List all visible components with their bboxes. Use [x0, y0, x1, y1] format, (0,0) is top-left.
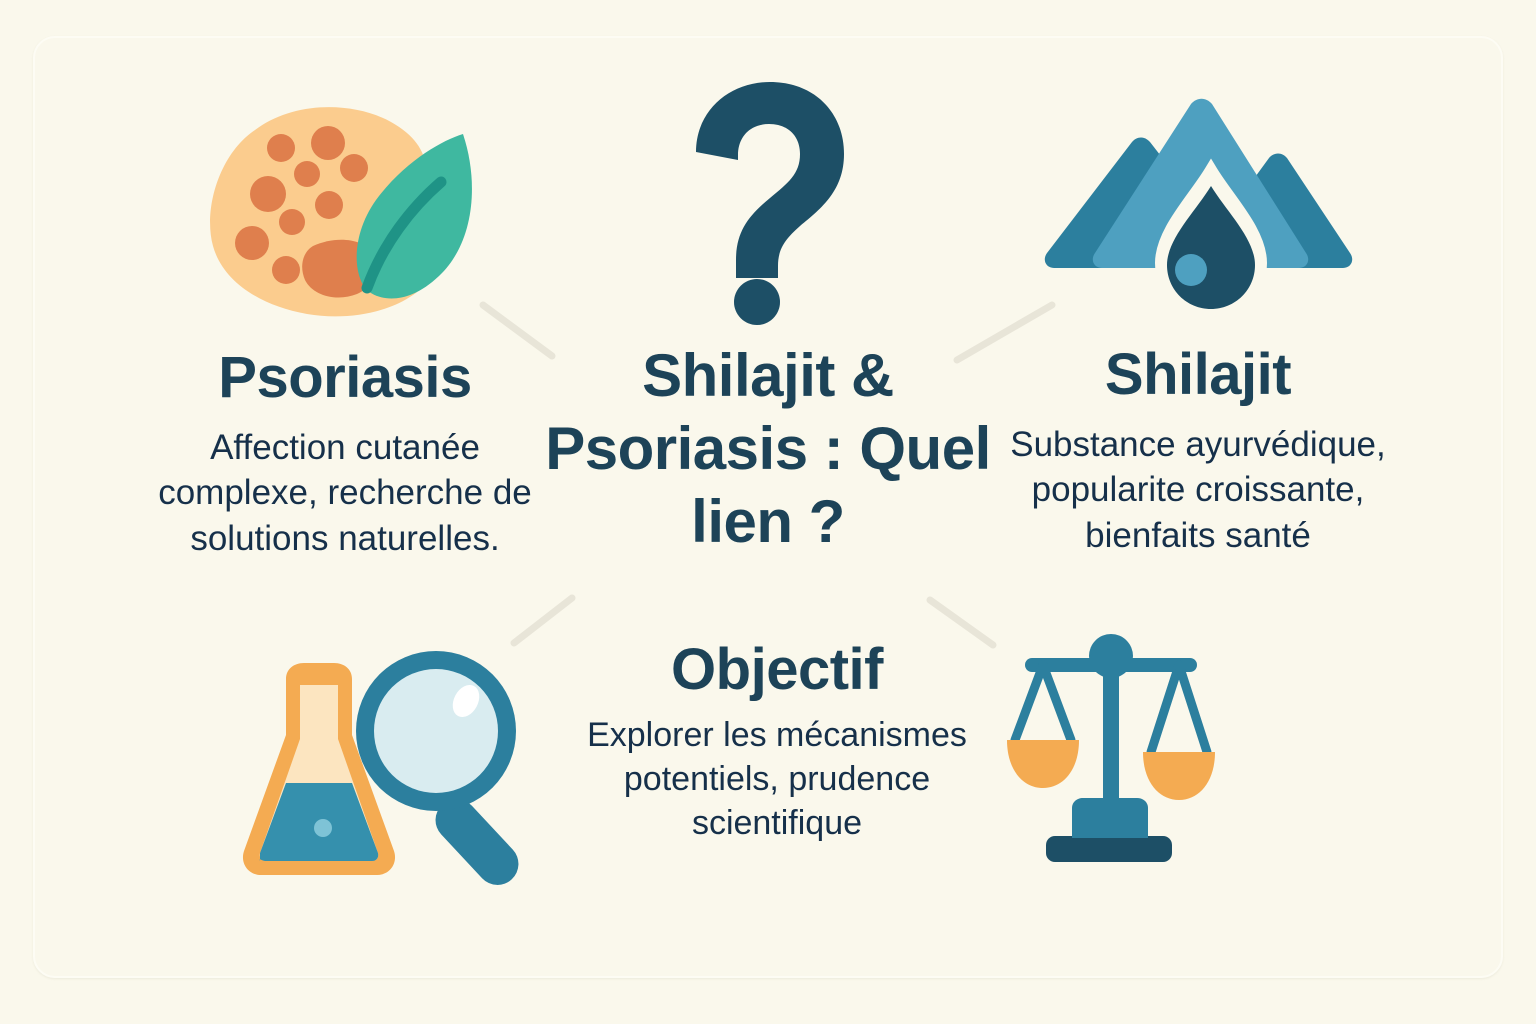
- section-shilajit: Shilajit Substance ayurvédique, populari…: [953, 90, 1443, 558]
- shilajit-title: Shilajit: [1105, 345, 1291, 406]
- skin-patch-leaf-icon: [195, 96, 495, 326]
- mountain-droplet-icon: [1028, 90, 1368, 325]
- infographic-canvas: Psoriasis Affection cutanée complexe, re…: [0, 0, 1536, 1024]
- question-mark-icon: [668, 80, 868, 325]
- section-objectif: Objectif Explorer les mécanismes potenti…: [562, 640, 992, 845]
- section-research-icon: [228, 625, 578, 895]
- objectif-title: Objectif: [671, 640, 883, 701]
- objectif-description: Explorer les mécanismes potentiels, prud…: [562, 713, 992, 846]
- shilajit-description: Substance ayurvédique, popularite croiss…: [973, 422, 1423, 559]
- section-psoriasis: Psoriasis Affection cutanée complexe, re…: [100, 96, 590, 561]
- flask-magnifier-icon: [228, 625, 578, 895]
- psoriasis-description: Affection cutanée complexe, recherche de…: [145, 425, 545, 562]
- section-main-question: Shilajit & Psoriasis : Quel lien ?: [523, 80, 1013, 559]
- main-question-title: Shilajit & Psoriasis : Quel lien ?: [523, 339, 1013, 559]
- balance-scale-icon: [980, 628, 1260, 878]
- psoriasis-title: Psoriasis: [218, 348, 471, 409]
- section-balance-icon: [980, 628, 1260, 878]
